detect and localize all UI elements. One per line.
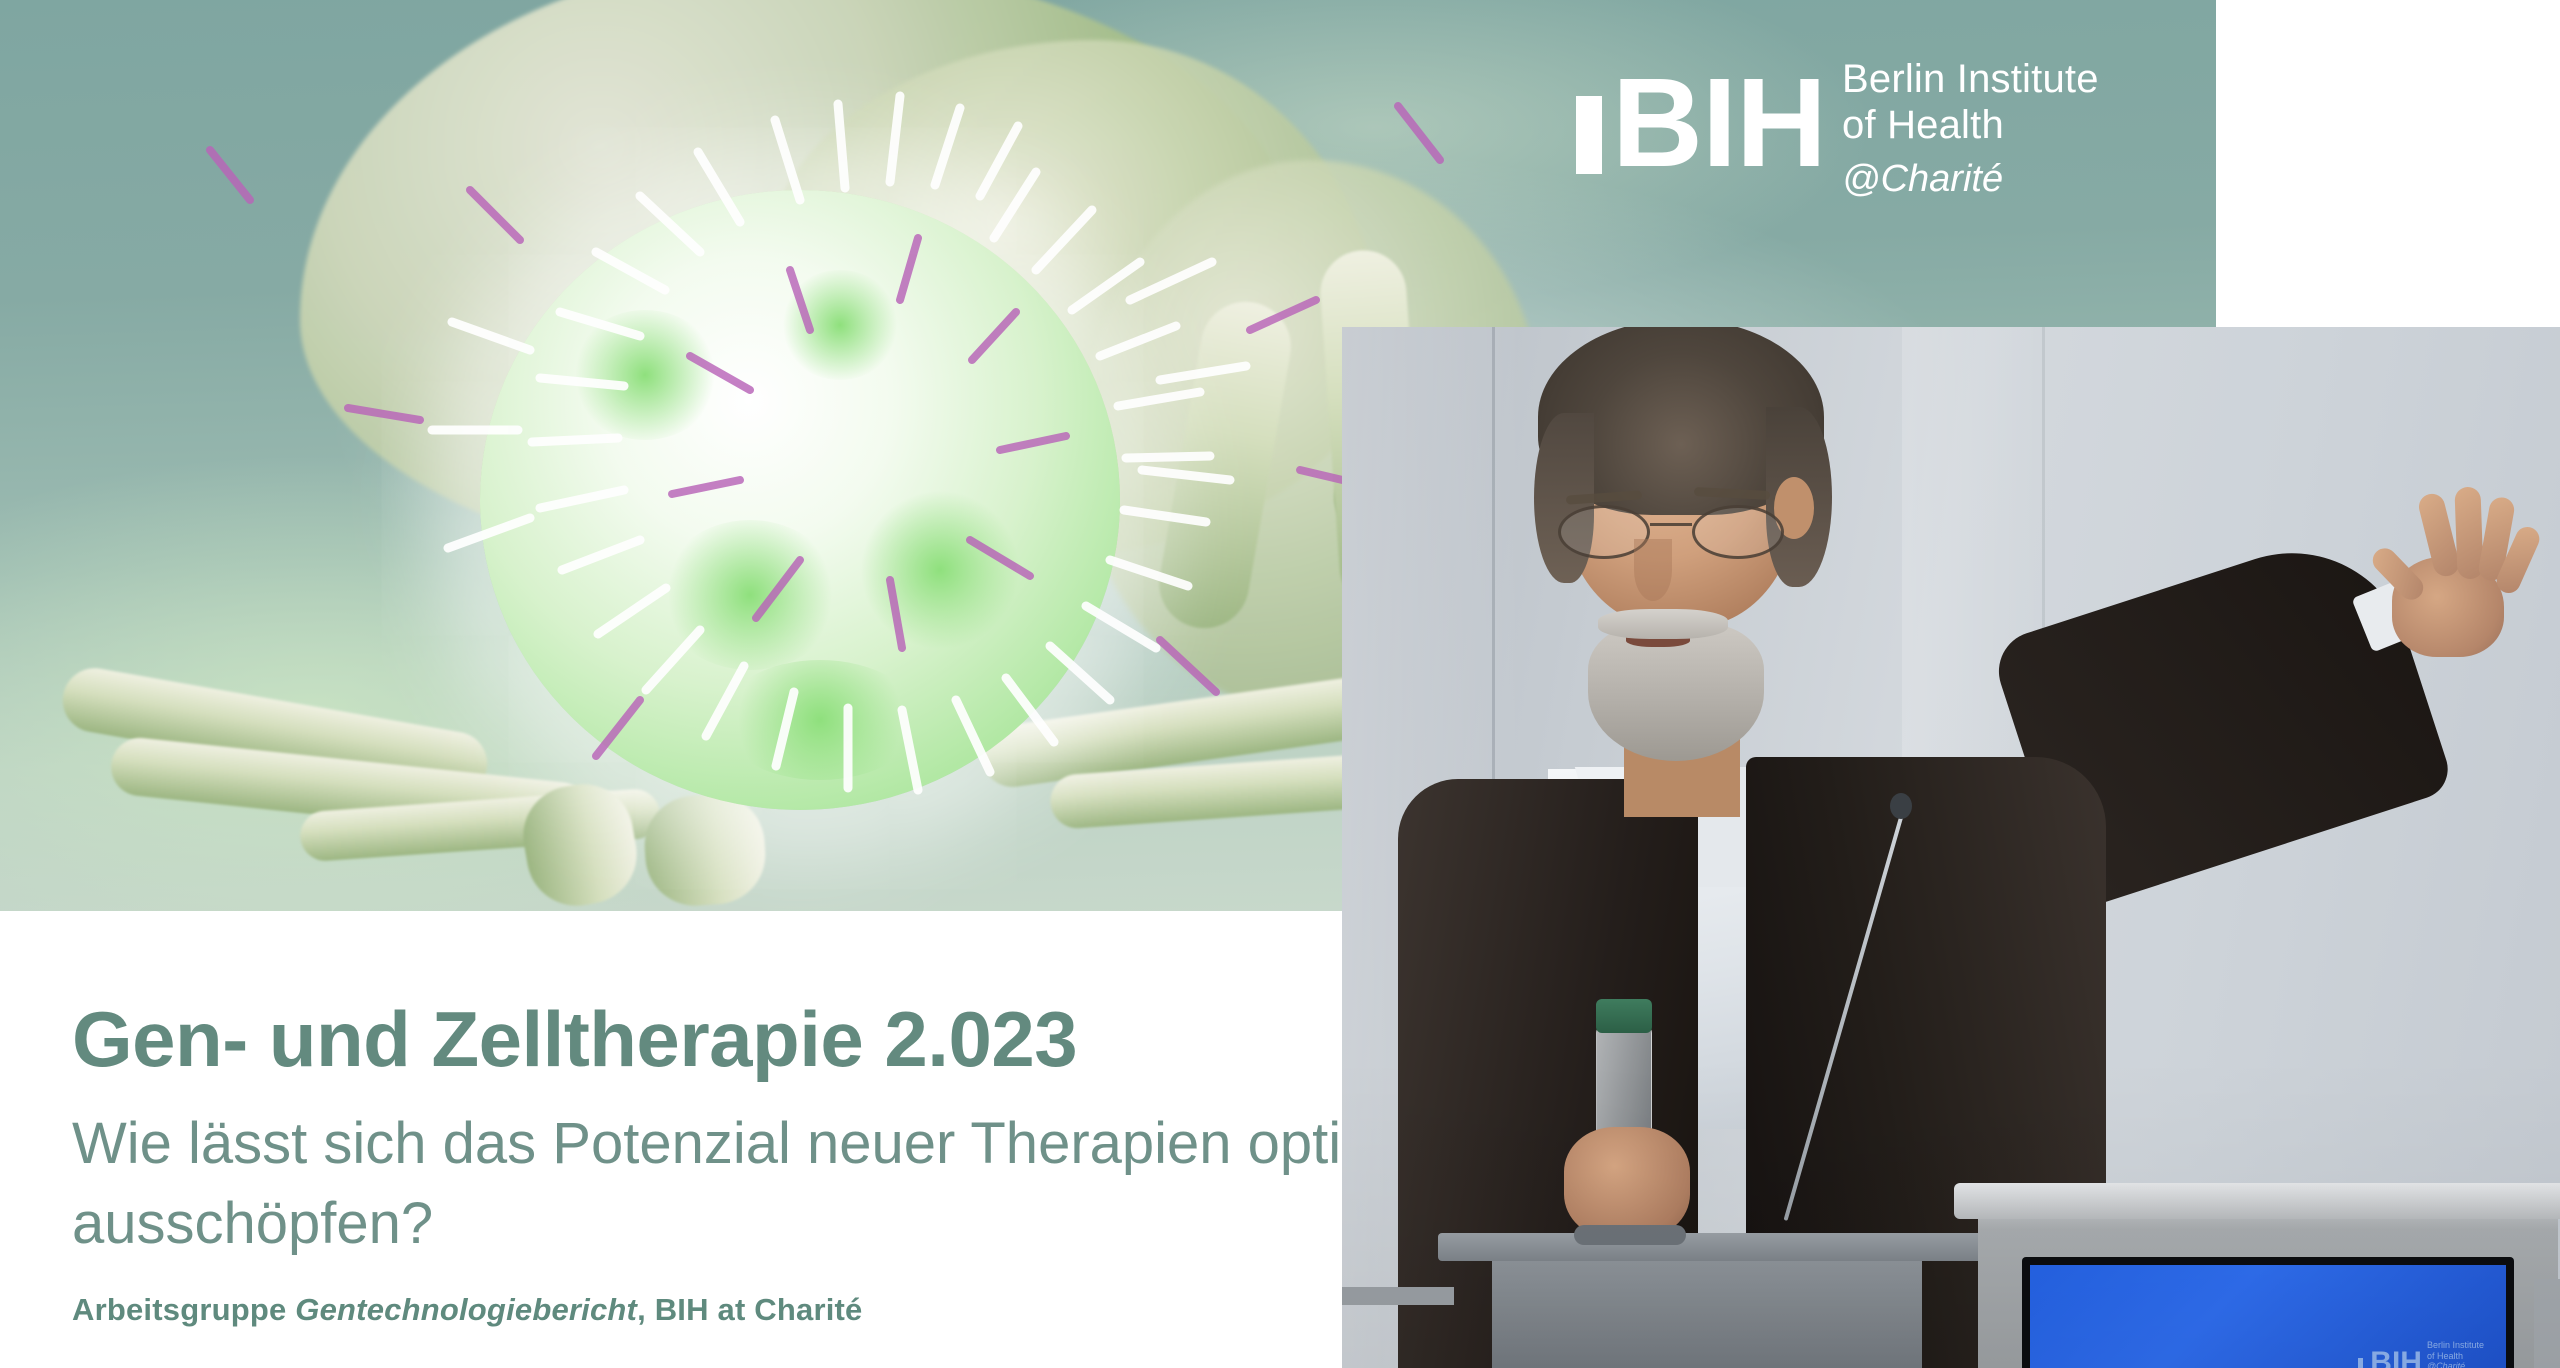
bih-i-stem-icon (1576, 96, 1602, 174)
glasses-bridge (1650, 523, 1692, 526)
stage-rail-right (2534, 1279, 2560, 1368)
bih-letters: BIH (1612, 71, 1826, 174)
lectern-bih-line-2: of Health (2427, 1351, 2484, 1362)
bih-logo-line-1: Berlin Institute (1842, 56, 2099, 102)
eyeglasses-icon (1558, 505, 1808, 559)
lectern-display-screen: BIH Berlin Institute of Health @Charité (2030, 1265, 2506, 1368)
speaker-hand-holding-bottle (1564, 1127, 1690, 1239)
screen: BIH Berlin Institute of Health @Charité … (0, 0, 2560, 1368)
speaker-moustache (1598, 609, 1728, 639)
slide-title: Gen- und Zelltherapie 2.023 (72, 994, 1077, 1085)
lectern-bih-line-1: Berlin Institute (2427, 1340, 2484, 1351)
attribution-report-name: Gentechnologiebericht (295, 1292, 637, 1327)
speaker-hand (2382, 487, 2532, 655)
attribution-prefix: Arbeitsgruppe (72, 1292, 295, 1327)
slide-attribution: Arbeitsgruppe Gentechnologiebericht, BIH… (72, 1292, 863, 1328)
bih-wordmark: BIH (1576, 50, 1826, 174)
speaker-nose (1634, 539, 1672, 601)
lectern-top-edge (1954, 1183, 2560, 1219)
side-table-base (1492, 1261, 1922, 1368)
lectern-display: BIH Berlin Institute of Health @Charité (2022, 1257, 2514, 1368)
bih-logo-text: Berlin Institute of Health @Charité (1842, 50, 2099, 201)
water-bottle-cap (1596, 999, 1652, 1033)
bih-logo: BIH Berlin Institute of Health @Charité (1576, 50, 2099, 201)
lectern-bih-letters: BIH (2370, 1351, 2422, 1368)
microphone-capsule (1890, 793, 1912, 819)
attribution-suffix: , BIH at Charité (637, 1292, 862, 1327)
side-table-top (1438, 1233, 1998, 1261)
lectern-bih-i-stem-icon (2358, 1358, 2363, 1368)
speaker-video-overlay[interactable]: BIH Berlin Institute of Health @Charité (1342, 327, 2560, 1368)
bih-logo-line-3: @Charité (1842, 157, 2099, 201)
glasses-lens-right (1692, 505, 1784, 559)
side-table-object (1574, 1225, 1686, 1245)
lectern-bih-line-3: @Charité (2427, 1361, 2484, 1368)
lectern-bih-logo: BIH Berlin Institute of Health @Charité (2358, 1340, 2484, 1368)
lectern-bih-text: Berlin Institute of Health @Charité (2427, 1340, 2484, 1368)
slide-subtitle: Wie lässt sich das Potenzial neuer Thera… (72, 1104, 1492, 1264)
bih-logo-line-2: of Health (1842, 102, 2099, 148)
stage-rail-left (1342, 1287, 1454, 1305)
